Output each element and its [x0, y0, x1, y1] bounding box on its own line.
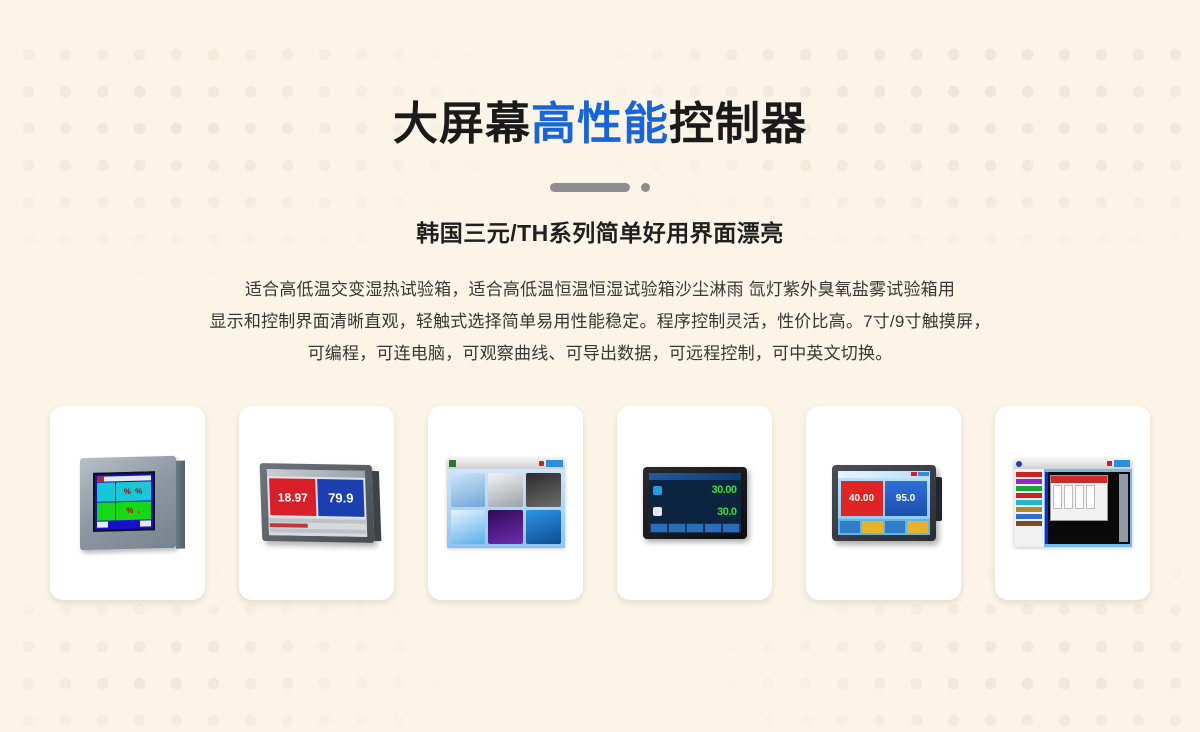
- page-title-prefix: 大屏幕: [393, 98, 531, 149]
- card5-value-2: 95.0: [885, 481, 927, 516]
- product-image-lightblue-hmi: 40.00 95.0: [825, 453, 943, 553]
- product-image-black-bezel-hmi: 30.00 30.0: [636, 453, 754, 553]
- page-title: 大屏幕高性能控制器: [0, 30, 1200, 152]
- divider-dot: [641, 183, 650, 192]
- card2-value-1: 18.97: [269, 478, 316, 516]
- description-line-3: 可编程，可连电脑，可观察曲线、可导出数据，可远程控制，可中英文切换。: [120, 338, 1080, 370]
- page-subtitle: 韩国三元/TH系列简单好用界面漂亮: [0, 214, 1200, 248]
- product-image-software-icon-grid: [447, 453, 565, 553]
- card1-value-1: % %: [123, 486, 142, 496]
- product-image-wide-hmi-red-blue: 18.97 79.9: [258, 453, 376, 553]
- card1-value-2: % .: [126, 505, 141, 514]
- product-image-panel-controller: % % % .: [69, 453, 187, 553]
- product-card[interactable]: % % % .: [50, 406, 205, 600]
- page-title-suffix: 控制器: [669, 98, 807, 149]
- product-card[interactable]: 40.00 95.0: [806, 406, 961, 600]
- description-block: 适合高低温交变湿热试验箱，适合高低温恒温恒湿试验箱沙尘淋雨 氙灯紫外臭氧盐雾试验…: [120, 274, 1080, 370]
- product-gallery: % % % . 18.97 79.9: [0, 406, 1200, 600]
- description-line-1: 适合高低温交变湿热试验箱，适合高低温恒温恒湿试验箱沙尘淋雨 氙灯紫外臭氧盐雾试验…: [120, 274, 1080, 306]
- product-card[interactable]: 18.97 79.9: [239, 406, 394, 600]
- product-card[interactable]: [995, 406, 1150, 600]
- product-card[interactable]: 30.00 30.0: [617, 406, 772, 600]
- promo-page: 大屏幕高性能控制器 韩国三元/TH系列简单好用界面漂亮 适合高低温交变湿热试验箱…: [0, 30, 1200, 732]
- card4-value-2: 30.0: [717, 506, 736, 518]
- card4-value-1: 30.00: [711, 484, 736, 496]
- product-card[interactable]: [428, 406, 583, 600]
- title-divider: [0, 183, 1200, 192]
- card5-value-1: 40.00: [841, 481, 883, 516]
- card2-value-2: 79.9: [317, 479, 364, 517]
- description-line-2: 显示和控制界面清晰直观，轻触式选择简单易用性能稳定。程序控制灵活，性价比高。7寸…: [120, 306, 1080, 338]
- product-image-curve-software: [1014, 453, 1132, 553]
- divider-bar: [550, 183, 630, 192]
- page-title-accent: 高性能: [531, 98, 669, 149]
